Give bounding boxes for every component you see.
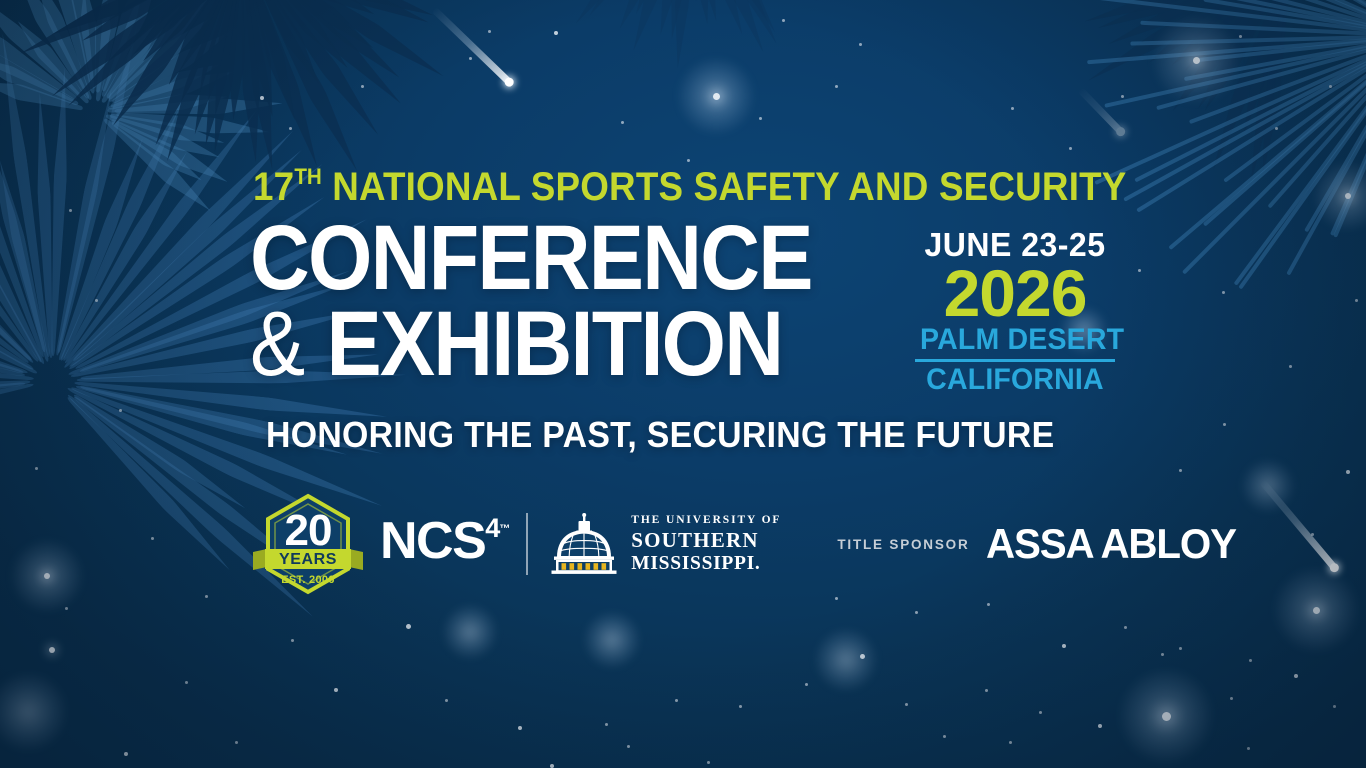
university-logo: THE UNIVERSITY OF SOUTHERN MISSISSIPPI. <box>548 513 781 575</box>
eyebrow-rest: NATIONAL SPORTS SAFETY AND SECURITY <box>322 165 1127 209</box>
shooting-star-faint-icon <box>1077 87 1125 136</box>
divider-line <box>915 359 1115 362</box>
eyebrow-heading: 17TH NATIONAL SPORTS SAFETY AND SECURITY <box>253 166 1126 207</box>
university-line-2: SOUTHERN <box>631 530 781 551</box>
eyebrow-ordinal: 17 <box>253 165 294 209</box>
university-line-1: THE UNIVERSITY OF <box>631 515 781 527</box>
sponsor-label: TITLE SPONSOR <box>837 537 969 552</box>
title-exhibition-text: EXHIBITION <box>326 293 782 395</box>
title-line-conference: CONFERENCE <box>250 216 812 302</box>
title-sponsor-block: TITLE SPONSOR ASSA ABLOY <box>837 523 1245 565</box>
conference-promo-poster: 17TH NATIONAL SPORTS SAFETY AND SECURITY… <box>0 0 1366 768</box>
badge-number: 20 <box>256 509 360 553</box>
tagline: HONORING THE PAST, SECURING THE FUTURE <box>266 417 1054 453</box>
logo-divider <box>526 513 528 575</box>
page-title: CONFERENCE & EXHIBITION <box>250 216 874 387</box>
event-year: 2026 <box>915 263 1115 324</box>
university-line-3: MISSISSIPPI. <box>631 554 781 574</box>
title-word-exhibition <box>305 293 326 395</box>
ampersand: & <box>250 293 305 395</box>
dome-building-icon <box>548 513 622 575</box>
trademark-icon: ™ <box>499 523 510 535</box>
shooting-star-right-icon <box>1259 479 1339 572</box>
ncs4-logo: NCS4™ <box>380 515 510 567</box>
ncs4-name: NCS <box>380 512 485 570</box>
title-line-exhibition: & EXHIBITION <box>250 302 812 388</box>
badge-established: EST. 2006 <box>256 574 360 586</box>
event-dates: JUNE 23-25 <box>918 228 1112 261</box>
logo-row: 20 YEARS EST. 2006 NCS4™ <box>256 492 1246 596</box>
ncs4-superscript: 4 <box>485 513 499 543</box>
university-wordmark: THE UNIVERSITY OF SOUTHERN MISSISSIPPI. <box>631 515 781 573</box>
event-details-block: JUNE 23-25 2026 PALM DESERT CALIFORNIA <box>915 228 1115 395</box>
sponsor-name: ASSA ABLOY <box>986 523 1236 565</box>
eyebrow-ordinal-suffix: TH <box>294 164 321 189</box>
shooting-star-top-icon <box>432 7 515 87</box>
badge-unit-label: YEARS <box>256 550 360 569</box>
event-state: CALIFORNIA <box>920 364 1110 396</box>
event-city: PALM DESERT <box>920 324 1110 356</box>
anniversary-badge: 20 YEARS EST. 2006 <box>256 492 360 596</box>
